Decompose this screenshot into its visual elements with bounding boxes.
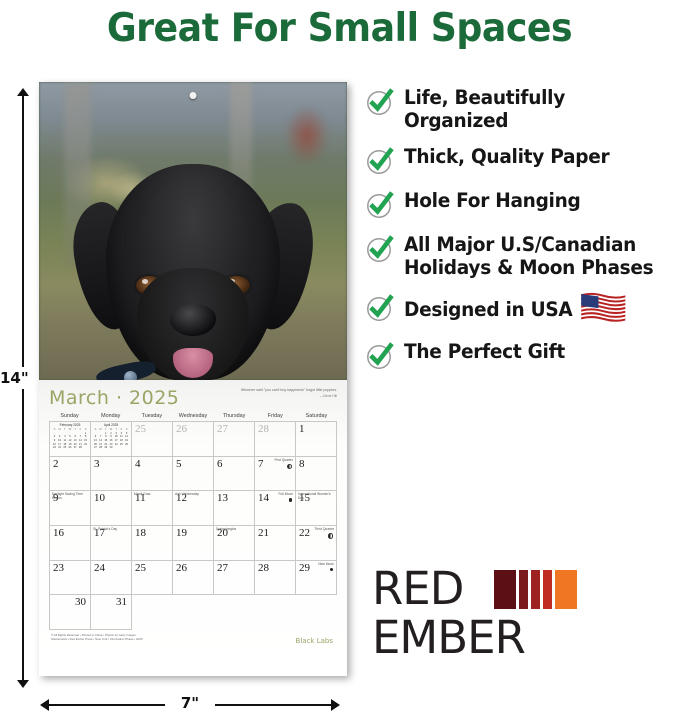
logo-bar	[555, 570, 577, 609]
calendar-day-cell: 9Daylight Saving Time begins	[50, 491, 91, 526]
check-circle-icon	[365, 234, 395, 264]
mini-day: 27	[73, 446, 78, 449]
feature-label-line-1: Hole For Hanging	[404, 189, 581, 212]
check-circle-icon	[365, 293, 395, 323]
mini-month-calendar: February 2025SMTWTFS12345678910111213141…	[52, 424, 88, 450]
mini-day	[83, 446, 88, 449]
us-flag-icon	[580, 292, 626, 327]
day-number: 2	[53, 458, 59, 470]
check-circle-icon	[365, 190, 395, 220]
arrow-right-icon	[331, 699, 340, 711]
dog-collar-tag	[124, 371, 137, 380]
day-number: 21	[258, 527, 269, 539]
mini-day: 27	[93, 446, 98, 449]
mini-day: 23	[52, 446, 57, 449]
weekday-label: Friday	[255, 413, 296, 421]
day-number: 22	[299, 527, 310, 539]
logo-bar	[519, 570, 528, 609]
calendar-product-image: March · 2025 Whoever said "you can't buy…	[39, 82, 347, 676]
calendar-day-cell: 19	[173, 526, 214, 561]
day-number: 27	[217, 423, 228, 435]
day-number: 23	[53, 562, 64, 574]
moon-phase-icon	[330, 568, 334, 572]
calendar-series-title: Black Labs	[296, 637, 333, 645]
logo-top-row: RED	[372, 566, 592, 612]
moon-phase-icon	[328, 533, 334, 539]
mini-day: 28	[78, 446, 83, 449]
logo-bar	[494, 570, 516, 609]
dimension-line-left	[48, 704, 165, 706]
calendar-day-cell: 28	[255, 422, 296, 457]
feature-label: Thick, Quality Paper	[404, 145, 609, 168]
calendar-fineprint: © All Rights Reserved • Printed in China…	[51, 633, 142, 641]
day-event-label: Spring begins	[216, 527, 236, 531]
logo-text-red: RED	[372, 562, 463, 615]
day-number: 26	[176, 562, 187, 574]
calendar-day-cell: April 2025SMTWTFS12345678910111213141516…	[91, 422, 132, 457]
weekday-label: Tuesday	[131, 413, 172, 421]
calendar-day-cell: 30	[50, 595, 91, 630]
day-number: 5	[176, 458, 182, 470]
day-number: 24	[94, 562, 105, 574]
mini-day: 24	[57, 446, 62, 449]
calendar-day-cell	[132, 595, 173, 630]
calendar-day-cell: 15International Women's Day	[296, 491, 337, 526]
dimension-line-right	[215, 704, 332, 706]
logo-ember-bars	[494, 570, 577, 609]
check-circle-icon	[365, 341, 395, 371]
calendar-day-cell: 18	[132, 526, 173, 561]
calendar-quote-author: —Gene Hill	[187, 394, 337, 399]
day-number: 29	[299, 562, 310, 574]
weekday-label: Wednesday	[172, 413, 213, 421]
feature-label: The Perfect Gift	[404, 340, 565, 363]
day-number: 8	[299, 458, 305, 470]
day-event-label: Ash Wednesday	[175, 492, 199, 496]
calendar-day-cell: 6	[214, 457, 255, 492]
calendar-day-cell: 26	[173, 422, 214, 457]
calendar-day-cell: 13	[214, 491, 255, 526]
mini-day	[119, 446, 124, 449]
calendar-day-cell: 8	[296, 457, 337, 492]
logo-bar	[543, 570, 552, 609]
mini-month-title: April 2025	[93, 424, 129, 427]
weekday-label: Sunday	[49, 413, 90, 421]
day-number: 13	[217, 492, 228, 504]
day-number: 28	[258, 562, 269, 574]
logo-bar	[531, 570, 540, 609]
mini-day	[124, 446, 129, 449]
day-number: 16	[53, 527, 64, 539]
mini-month-grid: SMTWTFS123456789101112131415161718192021…	[52, 428, 88, 449]
check-circle-icon	[365, 87, 395, 117]
calendar-day-cell: February 2025SMTWTFS12345678910111213141…	[50, 422, 91, 457]
calendar-day-cell	[296, 595, 337, 630]
calendar-day-cell: 23	[50, 561, 91, 596]
logo-text-ember: EMBER	[372, 614, 592, 662]
feature-label: Designed in USA	[404, 292, 626, 327]
calendar-day-cell: 17St. Patrick's Day	[91, 526, 132, 561]
day-number: 18	[135, 527, 146, 539]
check-circle-icon	[365, 146, 395, 176]
day-event-label: International Women's Day	[298, 492, 333, 500]
feature-item: Hole For Hanging	[365, 189, 677, 220]
calendar-weekday-header: SundayMondayTuesdayWednesdayThursdayFrid…	[49, 413, 337, 421]
calendar-quote: Whoever said "you can't buy happiness" f…	[187, 388, 337, 399]
calendar-day-cell: 10	[91, 491, 132, 526]
height-dimension-label: 14"	[0, 367, 29, 389]
day-event-label: Third Quarter	[314, 527, 334, 531]
day-event-label: Full Moon	[279, 492, 293, 496]
calendar-page: March · 2025 Whoever said "you can't buy…	[39, 380, 347, 676]
calendar-day-grid: February 2025SMTWTFS12345678910111213141…	[49, 421, 337, 630]
feature-label-line-1: Thick, Quality Paper	[404, 145, 609, 168]
feature-label: All Major U.S/CanadianHolidays & Moon Ph…	[404, 233, 653, 279]
feature-label-line-1: Life, Beautifully Organized	[404, 86, 565, 132]
feature-label-line-1: The Perfect Gift	[404, 340, 565, 363]
calendar-day-cell: 22Third Quarter	[296, 526, 337, 561]
day-number: 25	[135, 562, 146, 574]
day-number: 30	[75, 596, 86, 608]
feature-item: All Major U.S/CanadianHolidays & Moon Ph…	[365, 233, 677, 279]
moon-phase-icon	[289, 498, 293, 502]
day-number: 31	[116, 596, 127, 608]
calendar-day-cell: 7First Quarter	[255, 457, 296, 492]
black-labrador-photo	[78, 142, 308, 380]
calendar-day-cell: 25	[132, 561, 173, 596]
mini-day: 29	[103, 446, 108, 449]
day-number: 26	[176, 423, 187, 435]
day-number: 28	[258, 423, 269, 435]
day-event-label: St. Patrick's Day	[93, 527, 117, 531]
day-event-label: First Quarter	[274, 458, 293, 462]
day-event-label: Daylight Saving Time begins	[52, 492, 87, 500]
day-number: 25	[135, 423, 146, 435]
mini-day: 30	[109, 446, 114, 449]
calendar-day-cell: 31	[91, 595, 132, 630]
calendar-day-cell: 12Ash Wednesday	[173, 491, 214, 526]
feature-label-line-2: Holidays & Moon Phases	[404, 256, 653, 279]
calendar-day-cell: 2	[50, 457, 91, 492]
calendar-day-cell: 4	[132, 457, 173, 492]
day-number: 19	[176, 527, 187, 539]
calendar-day-cell: 29New Moon	[296, 561, 337, 596]
day-number: 1	[299, 423, 305, 435]
moon-phase-icon	[287, 464, 293, 470]
feature-item: Designed in USA	[365, 292, 677, 327]
feature-item: The Perfect Gift	[365, 340, 677, 371]
calendar-day-cell: 1	[296, 422, 337, 457]
calendar-day-cell: 21	[255, 526, 296, 561]
calendar-day-cell: 20Spring begins	[214, 526, 255, 561]
feature-label: Hole For Hanging	[404, 189, 581, 212]
mini-month-grid: SMTWTFS123456789101112131415161718192021…	[93, 428, 129, 449]
day-number: 14	[258, 492, 269, 504]
day-event-label: Mardi Gras	[134, 492, 150, 496]
day-number: 3	[94, 458, 100, 470]
weekday-label: Thursday	[214, 413, 255, 421]
mini-day: 25	[62, 446, 67, 449]
width-dimension-arrow: 7"	[40, 697, 340, 713]
day-number: 4	[135, 458, 141, 470]
feature-list: Life, Beautifully OrganizedThick, Qualit…	[365, 86, 677, 384]
feature-label-line-1: All Major U.S/Canadian	[404, 233, 636, 256]
day-number: 7	[258, 458, 264, 470]
feature-label-line-1: Designed in USA	[404, 298, 572, 321]
calendar-day-cell: 28	[255, 561, 296, 596]
arrow-down-icon	[17, 680, 29, 688]
calendar-day-cell: 14Full Moon	[255, 491, 296, 526]
calendar-day-cell	[255, 595, 296, 630]
calendar-day-cell: 11Mardi Gras	[132, 491, 173, 526]
page-title: Great For Small Spaces	[24, 6, 655, 51]
mini-day: 26	[68, 446, 73, 449]
fineprint-line-2: Shutterstock • Red Ember Press • New Yor…	[51, 637, 142, 641]
day-number: 10	[94, 492, 105, 504]
feature-item: Life, Beautifully Organized	[365, 86, 677, 132]
calendar-day-cell: 27	[214, 422, 255, 457]
hanging-hole	[190, 92, 197, 99]
day-number: 6	[217, 458, 223, 470]
calendar-day-cell	[214, 595, 255, 630]
dog-nose	[170, 304, 216, 336]
mini-month-title: February 2025	[52, 424, 88, 427]
calendar-day-cell	[173, 595, 214, 630]
calendar-day-cell: 26	[173, 561, 214, 596]
calendar-day-cell: 3	[91, 457, 132, 492]
weekday-label: Monday	[90, 413, 131, 421]
mini-month-calendar: April 2025SMTWTFS12345678910111213141516…	[93, 424, 129, 450]
calendar-quote-text: Whoever said "you can't buy happiness" f…	[241, 388, 337, 392]
red-ember-logo: RED EMBER	[372, 566, 592, 662]
day-number: 27	[217, 562, 228, 574]
calendar-photo	[39, 82, 347, 380]
calendar-day-cell: 5	[173, 457, 214, 492]
calendar-day-cell: 24	[91, 561, 132, 596]
calendar-day-cell: 27	[214, 561, 255, 596]
calendar-day-cell: 16	[50, 526, 91, 561]
weekday-label: Saturday	[296, 413, 337, 421]
calendar-footer: © All Rights Reserved • Printed in China…	[49, 633, 337, 651]
calendar-header: March · 2025 Whoever said "you can't buy…	[49, 386, 337, 412]
mini-day: 28	[98, 446, 103, 449]
day-event-label: New Moon	[318, 562, 334, 566]
dog-head	[106, 164, 280, 380]
width-dimension-label: 7"	[168, 694, 212, 712]
calendar-day-cell: 25	[132, 422, 173, 457]
feature-label: Life, Beautifully Organized	[404, 86, 663, 132]
mini-day	[114, 446, 119, 449]
feature-item: Thick, Quality Paper	[365, 145, 677, 176]
